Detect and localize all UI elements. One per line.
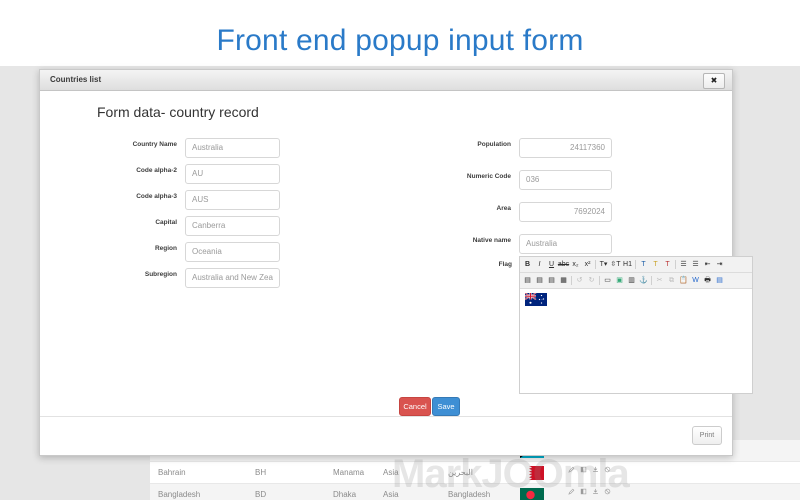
save-button[interactable]: Save [432, 397, 460, 416]
image-icon[interactable]: ▣ [614, 275, 625, 286]
bangladesh-flag-icon [520, 488, 544, 500]
region-cell: Asia [383, 490, 443, 499]
ban-icon[interactable] [604, 488, 611, 495]
field-region: Region [185, 241, 280, 261]
field-label: Numeric Code [467, 173, 511, 180]
region-input[interactable] [185, 242, 280, 262]
edit-icon[interactable] [568, 466, 575, 473]
field-label: Area [497, 205, 511, 212]
cut-icon[interactable]: ✂ [654, 275, 665, 286]
code-alpha-2-input[interactable] [185, 164, 280, 184]
toolbar-separator [595, 260, 596, 269]
undo-icon[interactable]: ↺ [574, 275, 585, 286]
page-title: Front end popup input form [0, 24, 800, 58]
field-label: Subregion [145, 271, 177, 278]
row-actions [568, 466, 611, 473]
cancel-button[interactable]: Cancel [399, 397, 431, 416]
print-icon[interactable]: 🖶 [702, 275, 713, 286]
edit-icon[interactable] [568, 488, 575, 495]
country-name-cell: Bangladesh [158, 490, 248, 499]
field-area: Area [519, 201, 612, 221]
toolbar-separator [599, 276, 600, 285]
align-right-icon[interactable]: ▤ [546, 275, 557, 286]
field-numeric-code: Numeric Code [519, 169, 612, 189]
field-country-name: Country Name [185, 137, 280, 157]
editor-content-area[interactable] [520, 289, 752, 393]
bold-icon[interactable]: B [522, 259, 533, 270]
table-row[interactable]: Bangladesh BD Dhaka Asia Bangladesh [150, 484, 800, 500]
outdent-icon[interactable]: ⇤ [702, 259, 713, 270]
subregion-input[interactable] [185, 268, 280, 288]
editor-toolbar-row-1: B I U abc x₂ x² T▾ ⇳T H1 T T T ☰ ☰ [520, 257, 752, 273]
country-code-cell: BH [255, 468, 295, 477]
row-actions [568, 488, 611, 495]
field-label: Flag [499, 261, 512, 268]
numeric-code-input[interactable] [519, 170, 612, 190]
paste-word-icon[interactable]: W [690, 275, 701, 286]
countries-list-modal: Countries list ✖ Form data- country reco… [39, 69, 733, 456]
native-name-cell: Bangladesh [448, 490, 518, 499]
native-name-cell: البحرين [448, 468, 518, 477]
download-icon[interactable] [592, 466, 599, 473]
field-label: Capital [155, 219, 177, 226]
align-justify-icon[interactable]: ▦ [558, 275, 569, 286]
ban-icon[interactable] [604, 466, 611, 473]
population-input[interactable] [519, 138, 612, 158]
field-code-alpha-2: Code alpha-2 [185, 163, 280, 183]
field-subregion: Subregion [185, 267, 280, 287]
strikethrough-icon[interactable]: abc [558, 259, 569, 270]
code-alpha-3-input[interactable] [185, 190, 280, 210]
redo-icon[interactable]: ↻ [586, 275, 597, 286]
field-label: Native name [473, 237, 511, 244]
insert-media-icon[interactable]: ▥ [626, 275, 637, 286]
download-icon[interactable] [592, 488, 599, 495]
copy-icon[interactable] [580, 488, 587, 495]
paste-icon[interactable]: 📋 [678, 275, 689, 286]
close-icon[interactable]: ✖ [703, 73, 725, 89]
copy-icon[interactable]: ⧉ [666, 275, 677, 286]
field-label: Code alpha-3 [136, 193, 177, 200]
field-label: Population [477, 141, 511, 148]
modal-header: Countries list ✖ [40, 70, 732, 91]
country-name-input[interactable] [185, 138, 280, 158]
align-left-icon[interactable]: ▤ [522, 275, 533, 286]
toolbar-separator [635, 260, 636, 269]
modal-body: Form data- country record Country Name C… [40, 91, 732, 416]
modal-title: Countries list [50, 75, 101, 84]
field-capital: Capital [185, 215, 280, 235]
field-label: Code alpha-2 [136, 167, 177, 174]
source-code-icon[interactable]: ▤ [714, 275, 725, 286]
underline-icon[interactable]: U [546, 259, 557, 270]
subscript-icon[interactable]: x₂ [570, 259, 581, 270]
text-color-icon[interactable]: T [638, 259, 649, 270]
table-row[interactable]: Bahrain BH Manama Asia البحرين [150, 462, 800, 484]
field-label: Region [155, 245, 177, 252]
modal-footer: Print [40, 416, 732, 455]
link-icon[interactable]: ▭ [602, 275, 613, 286]
country-code-cell: BD [255, 490, 295, 499]
region-cell: Asia [383, 468, 443, 477]
field-population: Population [519, 137, 612, 157]
print-button[interactable]: Print [692, 426, 722, 445]
italic-icon[interactable]: I [534, 259, 545, 270]
form-heading: Form data- country record [97, 104, 259, 120]
superscript-icon[interactable]: x² [582, 259, 593, 270]
field-code-alpha-3: Code alpha-3 [185, 189, 280, 209]
native-name-input[interactable] [519, 234, 612, 254]
country-name-cell: Bahrain [158, 468, 248, 477]
align-center-icon[interactable]: ▤ [534, 275, 545, 286]
area-input[interactable] [519, 202, 612, 222]
remove-format-icon[interactable]: T [662, 259, 673, 270]
australia-flag-icon [525, 293, 547, 306]
anchor-icon[interactable]: ⚓ [638, 275, 649, 286]
capital-input[interactable] [185, 216, 280, 236]
background-color-icon[interactable]: T [650, 259, 661, 270]
numbered-list-icon[interactable]: ☰ [690, 259, 701, 270]
toolbar-separator [571, 276, 572, 285]
bullet-list-icon[interactable]: ☰ [678, 259, 689, 270]
font-family-icon[interactable]: T▾ [598, 259, 609, 270]
indent-icon[interactable]: ⇥ [714, 259, 725, 270]
heading-icon[interactable]: H1 [622, 259, 633, 270]
field-native-name: Native name [519, 233, 612, 253]
font-size-icon[interactable]: ⇳T [610, 259, 621, 270]
flag-editor: Flag B I U abc x₂ x² T▾ ⇳T H1 T T T [519, 256, 753, 394]
bahrain-flag-icon [520, 466, 544, 480]
screen: Front end popup input form Bahamas BS Na… [0, 0, 800, 500]
toolbar-separator [651, 276, 652, 285]
editor-toolbar-row-2: ▤ ▤ ▤ ▦ ↺ ↻ ▭ ▣ ▥ ⚓ ✂ ⧉ 📋 W [520, 273, 752, 289]
copy-icon[interactable] [580, 466, 587, 473]
field-label: Country Name [133, 141, 177, 148]
toolbar-separator [675, 260, 676, 269]
